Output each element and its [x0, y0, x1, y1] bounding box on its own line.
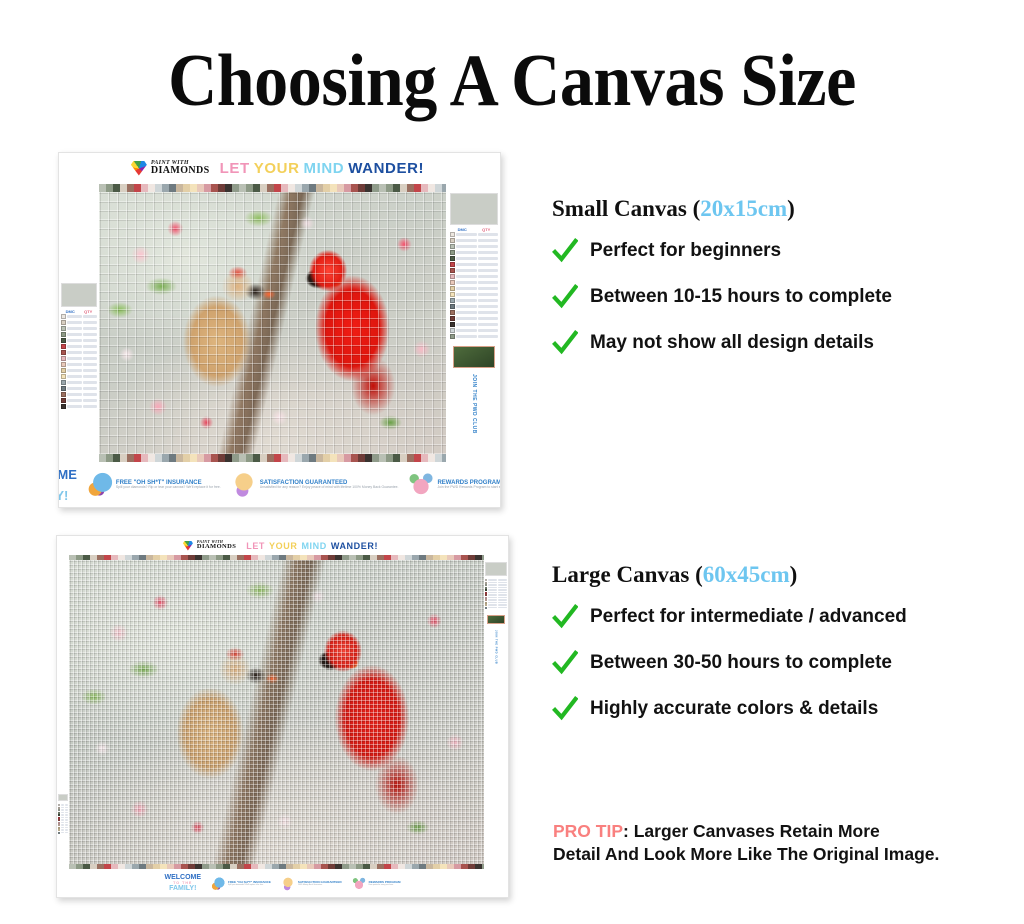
- dmc-code: [456, 275, 477, 278]
- welcome-to-the-family-large: WELCOME TO THE FAMILY!: [164, 874, 201, 893]
- feature-label: Highly accurate colors & details: [590, 698, 878, 720]
- dmc-color-swatch: [450, 316, 455, 321]
- dmc-legend-row: [450, 232, 498, 237]
- dmc-legend-row: [61, 332, 97, 337]
- dmc-legend-row: [450, 262, 498, 267]
- dmc-quantity: [65, 832, 68, 833]
- dmc-rows-left: [61, 314, 97, 409]
- dmc-code: [456, 329, 477, 332]
- promo-subtitle-rewards: Join the PWD Rewards Program to start ea…: [437, 486, 501, 490]
- dmc-code: [61, 824, 64, 825]
- dmc-legend-row: [450, 286, 498, 291]
- dmc-legend-row: [450, 334, 498, 339]
- dmc-quantity: [498, 589, 507, 590]
- dmc-quantity: [478, 257, 499, 260]
- feature-row: Between 30-50 hours to complete: [552, 650, 1022, 676]
- dmc-code: [67, 345, 82, 348]
- dmc-quantity: [65, 822, 68, 823]
- dmc-code: [488, 589, 497, 590]
- dmc-quantity: [83, 369, 98, 372]
- large-canvas-info: Large Canvas (60x45cm) Perfect for inter…: [552, 562, 1022, 742]
- paint-with-diamonds-logo-large: PAINT WITH DIAMONDS: [183, 540, 236, 551]
- diamond-icon: [131, 161, 147, 176]
- dmc-code: [61, 827, 64, 828]
- dmc-rows-left-large: [58, 804, 68, 834]
- dmc-legend-row: [61, 362, 97, 367]
- dmc-quantity: [478, 287, 499, 290]
- large-heading-prefix: Large Canvas (: [552, 562, 703, 587]
- dmc-legend-row: [61, 350, 97, 355]
- dmc-quantity: [83, 393, 98, 396]
- welcome-line-1: WELCOME: [58, 468, 77, 482]
- happy-face-icon: [231, 472, 257, 498]
- gift-basket-icon: [352, 877, 366, 891]
- dmc-quantity: [478, 245, 499, 248]
- dmc-code: [61, 814, 64, 815]
- promo-item-insurance-large: FREE "OH SH*T" INSURANCE Spill your diam…: [211, 877, 271, 891]
- dmc-code: [67, 381, 82, 384]
- promo-subtitle-satisfaction: Unsatisfied for any reason? Enjoy peace …: [260, 486, 399, 490]
- dmc-quantity: [83, 339, 98, 342]
- dmc-color-swatch: [61, 314, 66, 319]
- dmc-color-swatch: [450, 328, 455, 333]
- pro-tip-line-1: Larger Canvases Retain More: [634, 821, 880, 841]
- dmc-color-swatch: [61, 386, 66, 391]
- dmc-legend-row: [450, 328, 498, 333]
- dmc-code: [61, 809, 64, 810]
- dmc-quantity: [65, 809, 68, 810]
- dmc-color-swatch: [450, 304, 455, 309]
- paint-with-diamonds-logo: PAINT WITH DIAMONDS: [131, 160, 210, 176]
- promo-item-rewards: REWARDS PROGRAM Join the PWD Rewards Pro…: [408, 472, 501, 498]
- feature-label: Perfect for intermediate / advanced: [590, 606, 907, 628]
- tagline-word-let: LET: [220, 160, 250, 177]
- dmc-color-swatch: [450, 298, 455, 303]
- canvas-promo-bar-large: WELCOME TO THE FAMILY! FREE "OH SH*T" IN…: [57, 870, 508, 897]
- dmc-color-swatch: [450, 274, 455, 279]
- dmc-code: [61, 804, 64, 805]
- promo-copy-satisfaction-large: SATISFACTION GUARANTEED 100% Money Back …: [298, 881, 342, 887]
- framing-example-thumbnail: [453, 346, 494, 368]
- canvas-brand-bar: PAINT WITH DIAMONDS LETYOURMINDWANDER!: [59, 153, 500, 183]
- dmc-quantity: [478, 323, 499, 326]
- dmc-quantity: [498, 582, 507, 583]
- pro-tip-line-2: Detail And Look More Like The Original I…: [553, 844, 939, 864]
- dmc-color-swatch: [58, 832, 60, 834]
- checkmark-icon: [552, 650, 578, 676]
- dmc-color-swatch: [61, 374, 66, 379]
- dmc-code: [456, 293, 477, 296]
- dmc-color-swatch: [450, 232, 455, 237]
- dmc-quantity: [478, 263, 499, 266]
- dmc-quantity: [478, 311, 499, 314]
- dmc-code: [67, 375, 82, 378]
- dmc-column-header: DMC: [66, 310, 75, 314]
- legend-panel-left-large: [58, 794, 68, 834]
- dmc-color-swatch: [450, 310, 455, 315]
- dmc-color-swatch: [61, 332, 66, 337]
- artwork-thumbnail: [61, 283, 97, 307]
- dmc-code: [456, 311, 477, 314]
- dmc-legend-row: [61, 356, 97, 361]
- promo-item-rewards-large: REWARDS PROGRAM Earn points for every pu…: [352, 877, 401, 891]
- feature-label: Between 10-15 hours to complete: [590, 286, 892, 308]
- dmc-legend-row: [450, 322, 498, 327]
- dmc-code: [67, 321, 82, 324]
- join-pwd-club-label: JOIN THE PWD CLUB: [471, 374, 477, 434]
- canvas-artwork-large: [69, 560, 484, 864]
- dmc-quantity: [478, 233, 499, 236]
- framing-example-thumbnail-large: [487, 615, 506, 624]
- promo-subtitle-rewards-large: Earn points for every purchase.: [369, 884, 401, 886]
- dmc-quantity: [83, 399, 98, 402]
- paint-spill-icon: [211, 877, 225, 891]
- dmc-code: [488, 579, 497, 580]
- tagline-word-your: YOUR: [254, 160, 300, 177]
- tagline-word-your-large: YOUR: [269, 541, 297, 551]
- dmc-legend-row: [61, 320, 97, 325]
- happy-face-icon: [281, 877, 295, 891]
- promo-item-satisfaction-large: SATISFACTION GUARANTEED 100% Money Back …: [281, 877, 342, 891]
- dmc-color-chart-right-large: [485, 579, 507, 609]
- promo-copy-insurance: FREE "OH SH*T" INSURANCE Spill your diam…: [116, 480, 221, 491]
- dmc-color-swatch: [61, 392, 66, 397]
- diamond-icon: [183, 541, 193, 551]
- qty-column-header-right: QTY: [482, 228, 490, 232]
- canvas-artwork: [99, 192, 446, 454]
- feature-row: Between 10-15 hours to complete: [552, 284, 1022, 310]
- checkmark-icon: [552, 284, 578, 310]
- dmc-code: [67, 351, 82, 354]
- dmc-code: [67, 333, 82, 336]
- dmc-code: [61, 819, 64, 820]
- dmc-color-swatch: [450, 250, 455, 255]
- qty-column-header: QTY: [84, 310, 92, 314]
- dmc-code: [456, 299, 477, 302]
- dmc-color-swatch: [61, 338, 66, 343]
- welcome-line-3: FAMILY!: [58, 489, 68, 503]
- dmc-code: [456, 305, 477, 308]
- dmc-code: [488, 607, 497, 608]
- pro-tip-note: PRO TIP: Larger Canvases Retain More Det…: [553, 820, 1023, 866]
- color-strip-top: [99, 184, 446, 192]
- artwork-preview-thumbnail: [450, 193, 498, 225]
- feature-label: Perfect for beginners: [590, 240, 781, 262]
- color-strip-bottom: [99, 454, 446, 462]
- dmc-legend-row: [61, 344, 97, 349]
- promo-copy-rewards: REWARDS PROGRAM Join the PWD Rewards Pro…: [437, 480, 501, 491]
- canvas-tagline-large: LETYOURMINDWANDER!: [246, 541, 382, 551]
- dmc-quantity: [478, 269, 499, 272]
- checkmark-icon: [552, 604, 578, 630]
- dmc-quantity: [65, 807, 68, 808]
- dmc-code: [456, 239, 477, 242]
- dmc-quantity: [498, 604, 507, 605]
- dmc-color-chart-right: DMC QTY: [450, 228, 498, 340]
- cardinals-mosaic-image-large: [69, 560, 484, 864]
- dmc-legend-row: [58, 832, 68, 834]
- pro-tip-separator: :: [623, 821, 634, 841]
- checkmark-icon: [552, 330, 578, 356]
- dmc-code: [61, 832, 64, 833]
- dmc-quantity: [83, 405, 98, 408]
- dmc-legend-row: [450, 280, 498, 285]
- dmc-code: [61, 829, 64, 830]
- dmc-quantity: [478, 293, 499, 296]
- dmc-color-swatch: [61, 356, 66, 361]
- welcome-line-3-large: FAMILY!: [169, 885, 196, 892]
- dmc-quantity: [498, 592, 507, 593]
- dmc-column-header-right: DMC: [458, 228, 467, 232]
- dmc-quantity: [498, 584, 507, 585]
- dmc-code: [456, 323, 477, 326]
- dmc-code: [456, 317, 477, 320]
- dmc-quantity: [478, 329, 499, 332]
- checkmark-icon: [552, 696, 578, 722]
- welcome-to-the-family: WELCOME TO THE FAMILY!: [58, 468, 77, 502]
- large-heading-suffix: ): [790, 562, 798, 587]
- dmc-quantity: [65, 817, 68, 818]
- dmc-quantity: [83, 351, 98, 354]
- dmc-quantity: [83, 315, 98, 318]
- dmc-legend-row: [61, 314, 97, 319]
- dmc-color-swatch: [61, 398, 66, 403]
- cardinals-mosaic-image: [99, 192, 446, 454]
- dmc-quantity: [83, 327, 98, 330]
- dmc-legend-row: [450, 316, 498, 321]
- dmc-quantity: [478, 281, 499, 284]
- dmc-legend-row: [450, 292, 498, 297]
- dmc-code: [61, 812, 64, 813]
- dmc-color-swatch: [61, 404, 66, 409]
- brand-wordmark-large: PAINT WITH DIAMONDS: [197, 540, 236, 551]
- dmc-code: [61, 817, 64, 818]
- dmc-quantity: [65, 829, 68, 830]
- dmc-color-swatch: [61, 344, 66, 349]
- canvas-size-infographic: Choosing A Canvas Size PAINT WITH DIAMON…: [0, 0, 1024, 924]
- feature-label: Between 30-50 hours to complete: [590, 652, 892, 674]
- dmc-legend-row: [61, 326, 97, 331]
- dmc-legend-row: [450, 238, 498, 243]
- tagline-word-wander: WANDER!: [348, 160, 424, 177]
- small-canvas-heading: Small Canvas (20x15cm): [552, 196, 1022, 222]
- canvas-tagline: LETYOURMINDWANDER!: [220, 160, 429, 177]
- dmc-rows-right-large: [485, 579, 507, 609]
- large-canvas-mockup[interactable]: PAINT WITH DIAMONDS LETYOURMINDWANDER!: [56, 535, 509, 898]
- dmc-quantity: [83, 333, 98, 336]
- dmc-color-swatch: [61, 362, 66, 367]
- brand-wordmark: PAINT WITH DIAMONDS: [151, 160, 210, 176]
- dmc-quantity: [478, 299, 499, 302]
- dmc-quantity: [498, 602, 507, 603]
- promo-subtitle-satisfaction-large: 100% Money Back Guarantee.: [298, 884, 342, 886]
- dmc-quantity: [478, 275, 499, 278]
- dmc-code: [456, 335, 477, 338]
- checkmark-icon: [552, 238, 578, 264]
- dmc-legend-row: [61, 404, 97, 409]
- dmc-quantity: [83, 375, 98, 378]
- legend-panel-left: DMC QTY: [61, 283, 97, 410]
- page-title: Choosing A Canvas Size: [41, 40, 983, 122]
- dmc-code: [456, 269, 477, 272]
- dmc-code: [456, 233, 477, 236]
- dmc-quantity: [498, 579, 507, 580]
- pro-tip-label: PRO TIP: [553, 821, 623, 841]
- dmc-legend-row: [450, 304, 498, 309]
- dmc-color-swatch: [61, 368, 66, 373]
- small-canvas-mockup[interactable]: PAINT WITH DIAMONDS LETYOURMINDWANDER!: [58, 152, 501, 508]
- dmc-color-swatch: [61, 380, 66, 385]
- dmc-quantity: [83, 345, 98, 348]
- dmc-quantity: [478, 305, 499, 308]
- dmc-color-swatch: [450, 292, 455, 297]
- dmc-code: [67, 357, 82, 360]
- legend-panel-right-large: JOIN THE PWD CLUB: [485, 562, 507, 664]
- dmc-code: [456, 257, 477, 260]
- dmc-quantity: [83, 363, 98, 366]
- brand-logo-bottom-large: DIAMONDS: [197, 544, 236, 551]
- dmc-color-swatch: [450, 268, 455, 273]
- dmc-code: [488, 587, 497, 588]
- dmc-code: [488, 592, 497, 593]
- canvas-promo-bar: WELCOME TO THE FAMILY! FREE "OH SH*T" IN…: [59, 463, 500, 507]
- dmc-code: [488, 599, 497, 600]
- tagline-word-let-large: LET: [246, 541, 265, 551]
- dmc-quantity: [65, 814, 68, 815]
- dmc-code: [67, 363, 82, 366]
- dmc-legend-row: [450, 310, 498, 315]
- legend-panel-right: DMC QTY JOIN THE PWD CLUB: [450, 193, 498, 434]
- dmc-legend-row: [450, 268, 498, 273]
- dmc-quantity: [83, 321, 98, 324]
- dmc-legend-row: [61, 398, 97, 403]
- dmc-color-chart: DMC QTY: [61, 310, 97, 410]
- dmc-quantity: [83, 357, 98, 360]
- canvas-brand-bar-large: PAINT WITH DIAMONDS LETYOURMINDWANDER!: [57, 536, 508, 555]
- dmc-code: [488, 597, 497, 598]
- dmc-color-swatch: [450, 286, 455, 291]
- dmc-code: [67, 387, 82, 390]
- feature-row: May not show all design details: [552, 330, 1022, 356]
- gift-basket-icon: [408, 472, 434, 498]
- dmc-code: [67, 399, 82, 402]
- promo-subtitle-insurance: Spill your diamonds? Rip or tear your ca…: [116, 486, 221, 490]
- promo-copy-satisfaction: SATISFACTION GUARANTEED Unsatisfied for …: [260, 480, 399, 491]
- dmc-legend-row: [61, 386, 97, 391]
- dmc-color-swatch: [450, 238, 455, 243]
- feature-label: May not show all design details: [590, 332, 874, 354]
- dmc-quantity: [498, 597, 507, 598]
- dmc-quantity: [65, 824, 68, 825]
- large-canvas-size: 60x45cm: [703, 562, 790, 587]
- dmc-code: [488, 594, 497, 595]
- dmc-legend-row: [450, 256, 498, 261]
- artwork-thumbnail-large: [58, 794, 68, 801]
- dmc-code: [488, 582, 497, 583]
- canvas-sheet: PAINT WITH DIAMONDS LETYOURMINDWANDER!: [59, 153, 500, 507]
- dmc-quantity: [65, 819, 68, 820]
- dmc-color-chart-large: [58, 804, 68, 834]
- dmc-legend-row: [450, 298, 498, 303]
- large-canvas-heading: Large Canvas (60x45cm): [552, 562, 1022, 588]
- dmc-color-swatch: [450, 334, 455, 339]
- dmc-code: [67, 369, 82, 372]
- dmc-legend-row: [450, 274, 498, 279]
- dmc-code: [67, 393, 82, 396]
- feature-row: Perfect for beginners: [552, 238, 1022, 264]
- dmc-code: [61, 807, 64, 808]
- dmc-color-swatch: [450, 244, 455, 249]
- dmc-code: [456, 251, 477, 254]
- promo-subtitle-insurance-large: Spill your diamonds? We'll replace it fo…: [228, 884, 271, 886]
- small-canvas-info: Small Canvas (20x15cm) Perfect for begin…: [552, 196, 1022, 376]
- tagline-word-wander-large: WANDER!: [331, 541, 378, 551]
- dmc-code: [67, 405, 82, 408]
- dmc-code: [456, 263, 477, 266]
- dmc-code: [67, 315, 82, 318]
- paint-spill-icon: [87, 472, 113, 498]
- small-heading-suffix: ): [787, 196, 795, 221]
- dmc-quantity: [498, 599, 507, 600]
- dmc-quantity: [83, 381, 98, 384]
- dmc-quantity: [498, 594, 507, 595]
- dmc-color-swatch: [61, 350, 66, 355]
- dmc-code: [67, 327, 82, 330]
- dmc-legend-row: [61, 392, 97, 397]
- dmc-color-swatch: [450, 256, 455, 261]
- tagline-word-mind: MIND: [304, 160, 345, 177]
- brand-logo-bottom: DIAMONDS: [151, 166, 210, 176]
- small-canvas-size: 20x15cm: [700, 196, 787, 221]
- dmc-legend-row: [61, 380, 97, 385]
- dmc-quantity: [65, 827, 68, 828]
- promo-item-satisfaction: SATISFACTION GUARANTEED Unsatisfied for …: [231, 472, 399, 498]
- dmc-legend-row: [61, 374, 97, 379]
- dmc-quantity: [65, 804, 68, 805]
- dmc-color-swatch: [61, 326, 66, 331]
- dmc-quantity: [498, 607, 507, 608]
- join-pwd-club-label-large: JOIN THE PWD CLUB: [495, 630, 498, 664]
- dmc-quantity: [498, 587, 507, 588]
- promo-copy-insurance-large: FREE "OH SH*T" INSURANCE Spill your diam…: [228, 881, 271, 887]
- dmc-color-swatch: [450, 322, 455, 327]
- promo-copy-rewards-large: REWARDS PROGRAM Earn points for every pu…: [369, 881, 401, 887]
- dmc-legend-row: [450, 250, 498, 255]
- dmc-quantity: [478, 251, 499, 254]
- small-heading-prefix: Small Canvas (: [552, 196, 700, 221]
- feature-row: Highly accurate colors & details: [552, 696, 1022, 722]
- dmc-code: [67, 339, 82, 342]
- dmc-code: [61, 822, 64, 823]
- feature-row: Perfect for intermediate / advanced: [552, 604, 1022, 630]
- dmc-code: [488, 604, 497, 605]
- color-strip-bottom-large: [69, 864, 484, 869]
- dmc-legend-row: [485, 607, 507, 609]
- canvas-sheet-large: PAINT WITH DIAMONDS LETYOURMINDWANDER!: [57, 536, 508, 897]
- dmc-legend-row: [450, 244, 498, 249]
- artwork-preview-thumbnail-large: [485, 562, 507, 576]
- dmc-color-swatch: [61, 320, 66, 325]
- dmc-color-swatch: [485, 607, 487, 609]
- dmc-quantity: [478, 317, 499, 320]
- dmc-quantity: [83, 387, 98, 390]
- dmc-code: [456, 245, 477, 248]
- dmc-code: [456, 287, 477, 290]
- dmc-quantity: [478, 239, 499, 242]
- dmc-color-swatch: [450, 280, 455, 285]
- dmc-quantity: [478, 335, 499, 338]
- dmc-code: [488, 602, 497, 603]
